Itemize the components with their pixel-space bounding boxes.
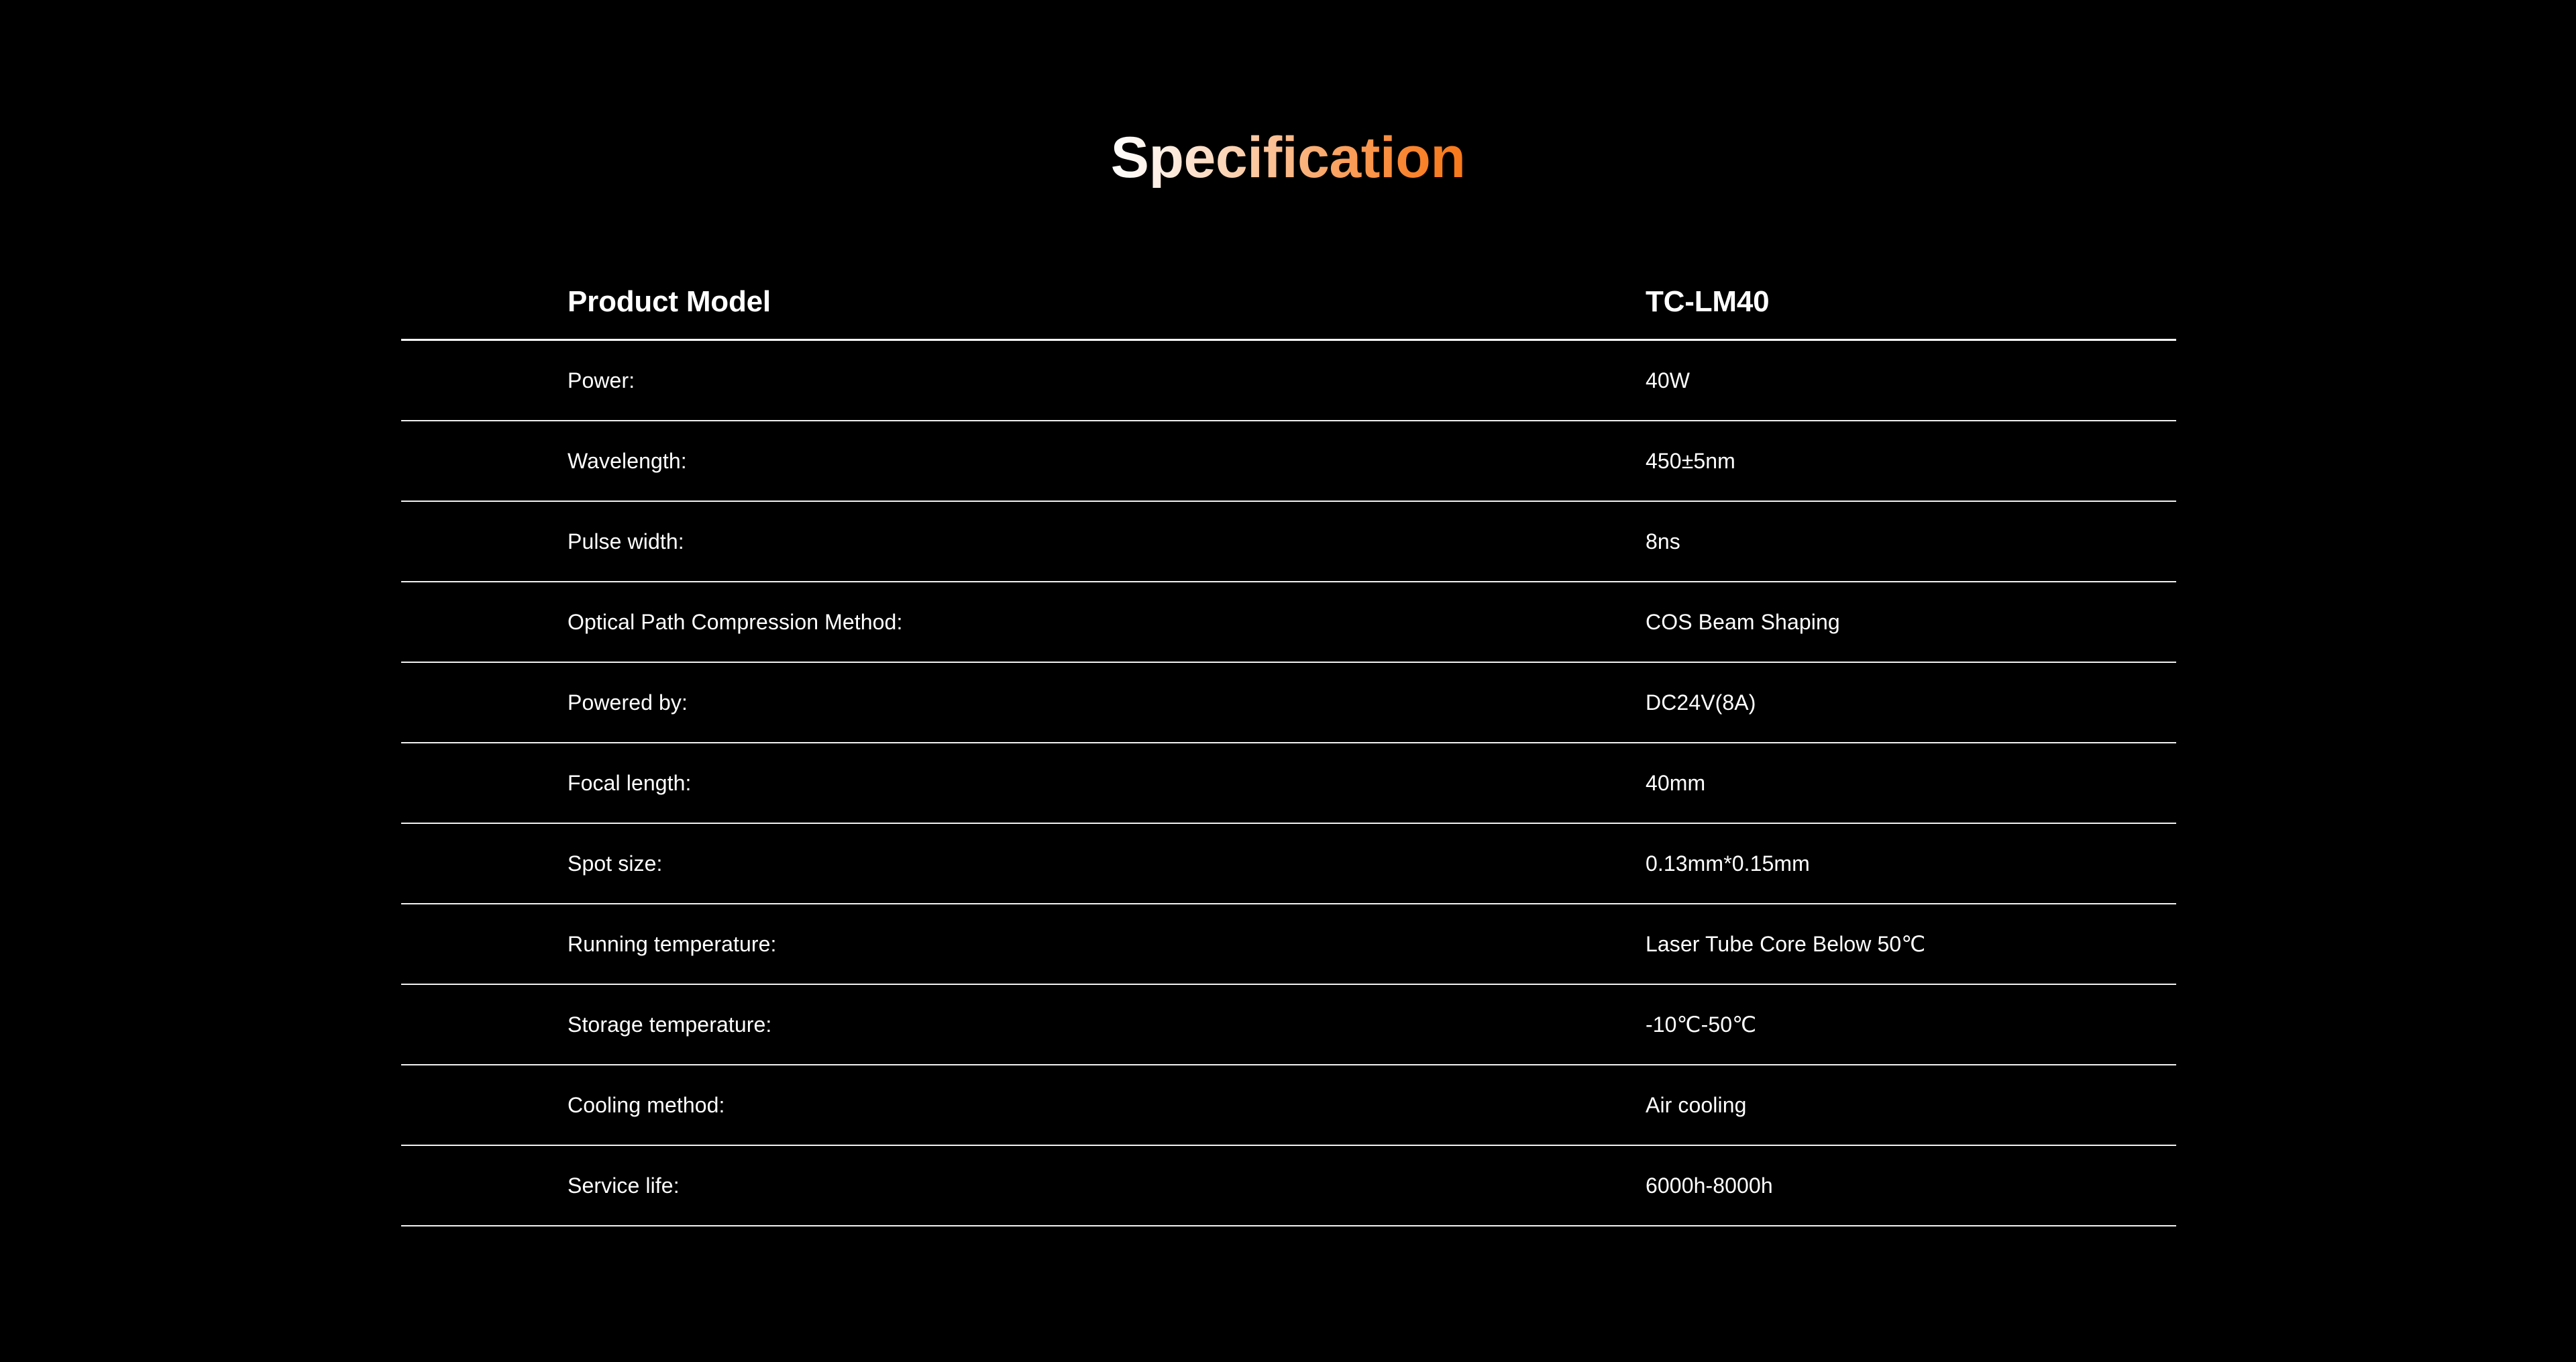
specification-page: Specification Product Model TC-LM40 Powe… bbox=[0, 0, 2576, 1362]
spec-label: Optical Path Compression Method: bbox=[401, 610, 1646, 635]
table-body: Power:40WWavelength:450±5nmPulse width:8… bbox=[401, 341, 2176, 1226]
table-row: Running temperature:Laser Tube Core Belo… bbox=[401, 904, 2176, 985]
table-row: Optical Path Compression Method:COS Beam… bbox=[401, 582, 2176, 663]
table-row: Spot size:0.13mm*0.15mm bbox=[401, 824, 2176, 904]
table-header-row: Product Model TC-LM40 bbox=[401, 242, 2176, 341]
table-row: Focal length:40mm bbox=[401, 743, 2176, 824]
table-row: Service life:6000h-8000h bbox=[401, 1146, 2176, 1226]
spec-label: Power: bbox=[401, 368, 1646, 393]
spec-value: Air cooling bbox=[1646, 1093, 2176, 1118]
page-title-container: Specification bbox=[0, 127, 2576, 188]
spec-label: Focal length: bbox=[401, 771, 1646, 796]
spec-value: 450±5nm bbox=[1646, 449, 2176, 474]
spec-label: Cooling method: bbox=[401, 1093, 1646, 1118]
spec-value: COS Beam Shaping bbox=[1646, 610, 2176, 635]
spec-label: Storage temperature: bbox=[401, 1012, 1646, 1037]
table-row: Storage temperature:-10℃-50℃ bbox=[401, 985, 2176, 1065]
table-row: Power:40W bbox=[401, 341, 2176, 421]
spec-label: Running temperature: bbox=[401, 932, 1646, 957]
spec-value: 6000h-8000h bbox=[1646, 1173, 2176, 1198]
table-header-value: TC-LM40 bbox=[1646, 285, 2176, 319]
spec-value: -10℃-50℃ bbox=[1646, 1012, 2176, 1037]
table-row: Pulse width:8ns bbox=[401, 502, 2176, 582]
page-title: Specification bbox=[1111, 127, 1466, 188]
spec-value: 40mm bbox=[1646, 771, 2176, 796]
table-row: Cooling method:Air cooling bbox=[401, 1065, 2176, 1146]
spec-label: Wavelength: bbox=[401, 449, 1646, 474]
table-row: Wavelength:450±5nm bbox=[401, 421, 2176, 502]
spec-label: Pulse width: bbox=[401, 529, 1646, 554]
table-header-label: Product Model bbox=[401, 285, 1646, 319]
spec-value: DC24V(8A) bbox=[1646, 690, 2176, 715]
spec-label: Service life: bbox=[401, 1173, 1646, 1198]
spec-value: 8ns bbox=[1646, 529, 2176, 554]
spec-label: Powered by: bbox=[401, 690, 1646, 715]
spec-value: Laser Tube Core Below 50℃ bbox=[1646, 931, 2176, 957]
spec-value: 40W bbox=[1646, 368, 2176, 393]
spec-value: 0.13mm*0.15mm bbox=[1646, 851, 2176, 876]
table-row: Powered by:DC24V(8A) bbox=[401, 663, 2176, 743]
spec-label: Spot size: bbox=[401, 851, 1646, 876]
specification-table: Product Model TC-LM40 Power:40WWavelengt… bbox=[401, 242, 2176, 1226]
